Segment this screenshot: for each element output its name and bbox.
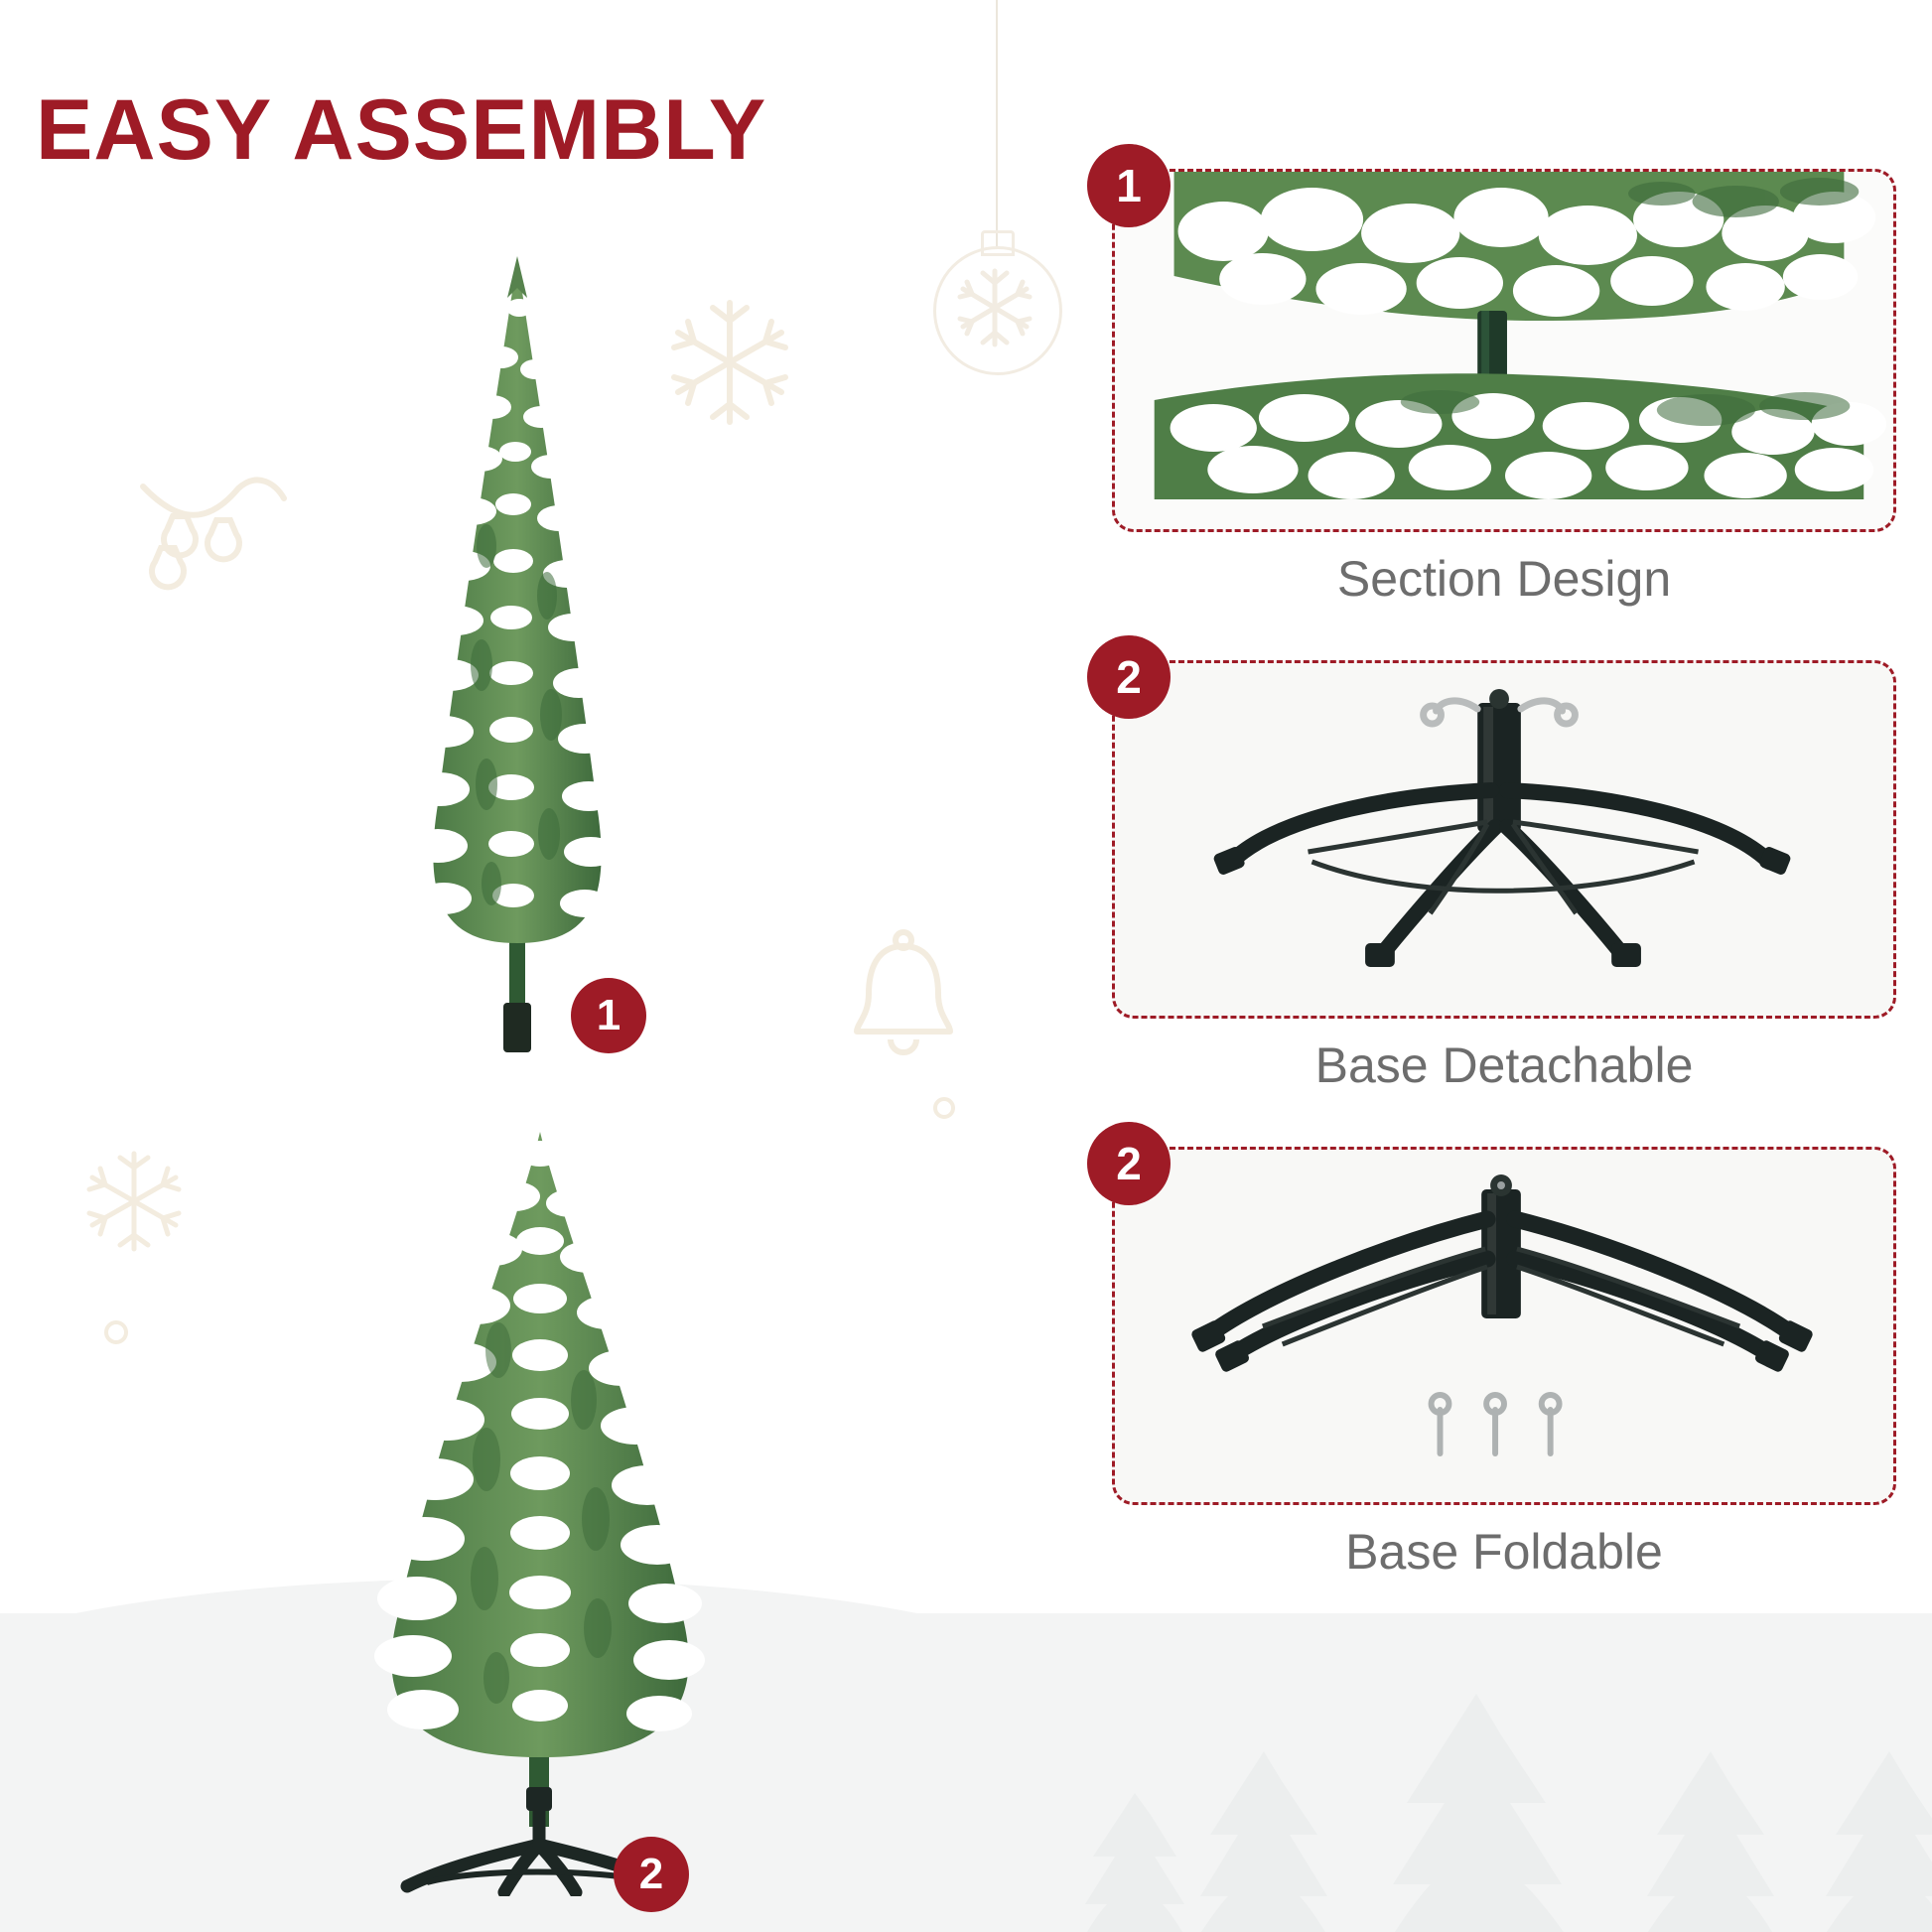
string-lights-icon bbox=[139, 477, 288, 611]
tree-stand-open-photo bbox=[1115, 663, 1893, 1016]
panel-1-caption: Section Design bbox=[1112, 550, 1896, 608]
tree-top-section-image bbox=[352, 248, 680, 1062]
snowflake-in-bauble-icon bbox=[936, 249, 1053, 366]
panel-2-caption: Base Detachable bbox=[1112, 1036, 1896, 1094]
panel-3-badge: 2 bbox=[1087, 1122, 1171, 1205]
snowflake-icon-small bbox=[74, 1142, 194, 1266]
hanging-bauble-icon bbox=[933, 246, 1062, 375]
panel-2-badge: 2 bbox=[1087, 635, 1171, 719]
dot-decoration-2 bbox=[933, 1097, 955, 1119]
panel-3-inner bbox=[1115, 1150, 1893, 1502]
panel-1-box: 1 bbox=[1112, 169, 1896, 532]
tree-section-joint-photo bbox=[1115, 172, 1893, 529]
panel-base-foldable: 2 Base Foldable bbox=[1112, 1147, 1896, 1581]
panel-3-caption: Base Foldable bbox=[1112, 1523, 1896, 1581]
panel-section-design: 1 Section Design bbox=[1112, 169, 1896, 608]
panel-1-inner bbox=[1115, 172, 1893, 529]
panel-2-box: 2 bbox=[1112, 660, 1896, 1019]
bell-icon bbox=[839, 928, 968, 1072]
dot-decoration bbox=[104, 1320, 128, 1344]
panel-2-inner bbox=[1115, 663, 1893, 1016]
page-title: EASY ASSEMBLY bbox=[36, 81, 766, 180]
badge-1: 1 bbox=[571, 978, 646, 1053]
panel-base-detachable: 2 Base Detachable bbox=[1112, 660, 1896, 1094]
badge-2: 2 bbox=[614, 1837, 689, 1912]
bauble-string bbox=[996, 0, 998, 248]
tree-bottom-section-image bbox=[328, 1102, 755, 1896]
tree-stand-folded-photo bbox=[1115, 1150, 1893, 1502]
panel-1-badge: 1 bbox=[1087, 144, 1171, 227]
panel-3-box: 2 bbox=[1112, 1147, 1896, 1505]
